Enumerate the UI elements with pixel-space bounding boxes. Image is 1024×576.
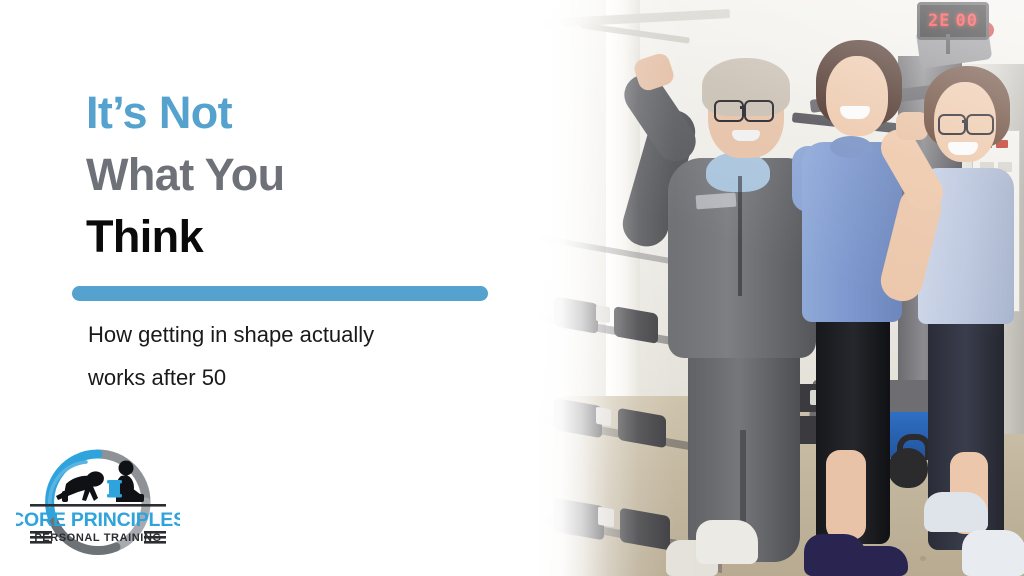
- person-right-eyeglass-lens: [938, 114, 966, 135]
- led-interval-timer: 2E 00: [917, 2, 989, 40]
- subtitle-line-2: works after 50: [88, 357, 508, 400]
- kettlebell-body: [888, 448, 928, 488]
- dumbbell-endcap: [596, 305, 610, 323]
- person-left-eyeglass-lens: [744, 100, 774, 122]
- person-left-shoe-left: [696, 520, 758, 564]
- person-left-jacket-zipper: [738, 176, 742, 296]
- person-right-shoe-left: [924, 492, 988, 532]
- headline-line-3: Think: [86, 206, 526, 268]
- subtitle: How getting in shape actually works afte…: [88, 314, 508, 400]
- logo-dumbbell-icon: [107, 480, 122, 498]
- dumbbell-endcap: [598, 507, 614, 528]
- person-right-eyeglass-bridge: [962, 120, 968, 123]
- page-title: It’s Not What You Think: [86, 82, 526, 268]
- person-middle-shoe-left: [804, 534, 866, 576]
- floor-fleck: [920, 556, 926, 561]
- gym-photo: 2E 00: [510, 0, 1024, 576]
- person-left-eyeglass-lens: [714, 100, 744, 122]
- slide-canvas: 2E 00: [0, 0, 1024, 576]
- person-middle-calf: [826, 450, 866, 540]
- timer-right-digits: 00: [956, 13, 978, 30]
- brand-logo: CORE PRINCIPLES PERSONAL TRAINING: [16, 444, 180, 562]
- gym-photo-panel: 2E 00: [510, 0, 1024, 576]
- dumbbell-endcap: [596, 407, 611, 427]
- brand-logo-svg: CORE PRINCIPLES PERSONAL TRAINING: [16, 444, 180, 562]
- person-left-eyeglass-bridge: [740, 106, 746, 109]
- subtitle-line-1: How getting in shape actually: [88, 314, 508, 357]
- headline-line-1: It’s Not: [86, 82, 526, 144]
- text-panel: It’s Not What You Think How getting in s…: [0, 0, 540, 576]
- timer-left-digits: 2E: [928, 13, 950, 30]
- logo-ground-line: [30, 504, 166, 507]
- accent-divider-bar: [72, 286, 488, 301]
- logo-name-primary: CORE PRINCIPLES: [16, 509, 180, 531]
- person-right-smile: [948, 142, 978, 155]
- timer-stand: [946, 34, 950, 54]
- person-middle-smile: [840, 106, 870, 119]
- person-left-chest-embroidery: [696, 193, 737, 210]
- headline-line-2: What You: [86, 144, 526, 206]
- person-right-eyeglass-lens: [966, 114, 994, 135]
- logo-name-secondary: PERSONAL TRAINING: [34, 532, 161, 544]
- person-middle-neckline: [830, 136, 872, 158]
- person-left-smile: [732, 130, 760, 141]
- person-right-shoe-right: [962, 530, 1024, 576]
